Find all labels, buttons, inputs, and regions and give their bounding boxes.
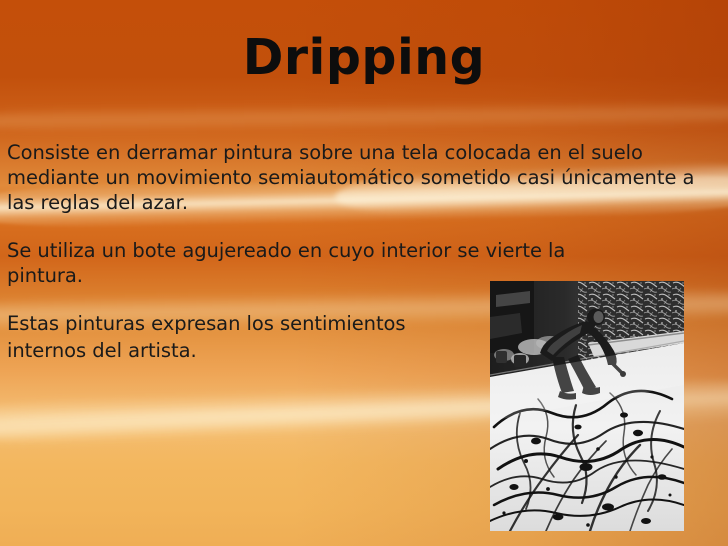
body-paragraph-1: Consiste en derramar pintura sobre una t… [7,140,725,215]
presentation-slide: Dripping Consiste en derramar pintura so… [0,0,728,546]
body-paragraph-3: Estas pinturas expresan los sentimientos… [7,310,477,364]
slide-content: Dripping Consiste en derramar pintura so… [0,0,728,546]
pollock-drip-painting-photo [490,281,684,531]
body-paragraph-3-line-1: Estas pinturas expresan los sentimientos [7,310,477,337]
slide-title: Dripping [0,32,728,85]
body-paragraph-3-line-2: internos del artista. [7,337,477,364]
